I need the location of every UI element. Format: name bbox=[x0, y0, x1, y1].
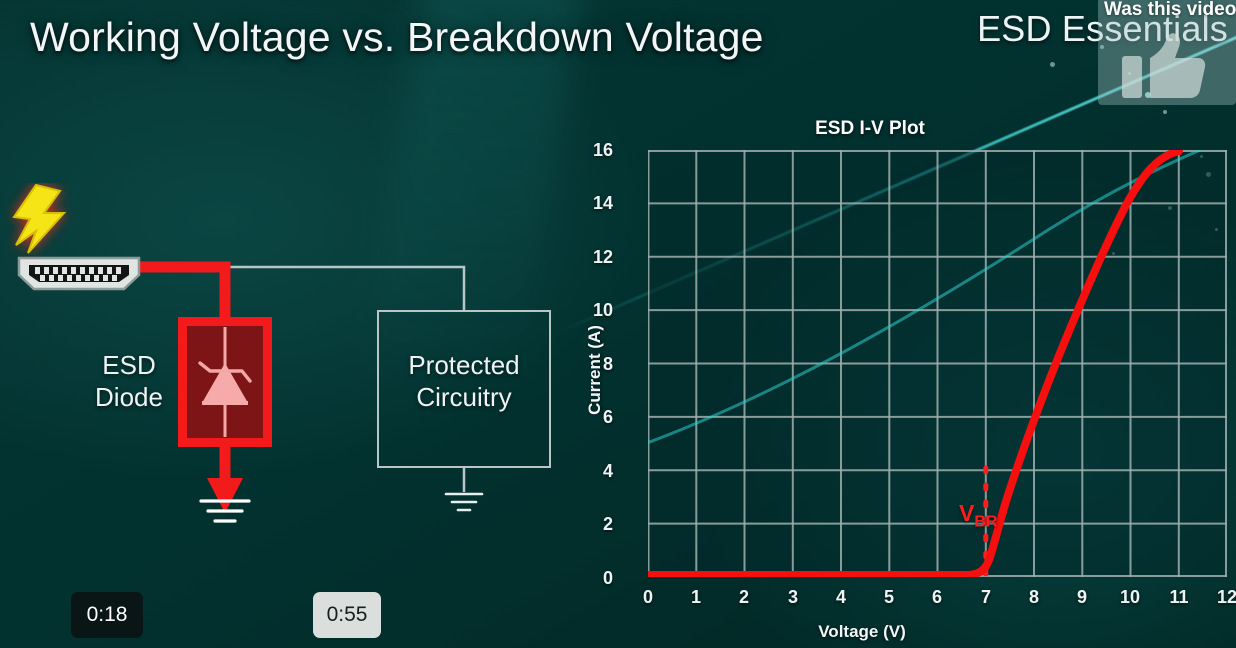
circuit-wires bbox=[0, 0, 620, 600]
x-tick-label: 7 bbox=[968, 587, 1004, 608]
protected-circuitry-label-line2: Circuitry bbox=[377, 381, 551, 413]
chart-plot-area bbox=[648, 150, 1227, 577]
x-tick-label: 10 bbox=[1112, 587, 1148, 608]
esd-strike-bolt-icon bbox=[6, 183, 76, 273]
y-tick-label: 12 bbox=[583, 247, 613, 268]
x-tick-label: 6 bbox=[919, 587, 955, 608]
x-tick-label: 8 bbox=[1016, 587, 1052, 608]
timestamp-badge-current[interactable]: 0:18 bbox=[71, 592, 143, 638]
y-tick-label: 14 bbox=[583, 193, 613, 214]
vbr-annotation-subscript: BR bbox=[974, 514, 997, 531]
x-tick-label: 12 bbox=[1209, 587, 1236, 608]
esd-diode-label-line1: ESD bbox=[86, 350, 172, 382]
x-axis-label: Voltage (V) bbox=[818, 622, 906, 642]
x-tick-label: 4 bbox=[823, 587, 859, 608]
vbr-annotation-symbol: V bbox=[959, 500, 974, 526]
feedback-prompt-text: Was this video bbox=[1104, 0, 1236, 21]
chart-title: ESD I-V Plot bbox=[575, 118, 1165, 140]
x-tick-label: 0 bbox=[630, 587, 666, 608]
vbr-annotation: VBR bbox=[959, 500, 997, 532]
particle-dot bbox=[1050, 62, 1055, 67]
circuit-diagram: ESD Diode Protected Circuitry bbox=[0, 0, 620, 600]
y-tick-label: 10 bbox=[583, 300, 613, 321]
chart-svg bbox=[648, 150, 1227, 577]
protected-circuitry-label: Protected Circuitry bbox=[377, 349, 551, 413]
feedback-overlay-card[interactable]: Was this video bbox=[1098, 0, 1236, 105]
y-tick-label: 16 bbox=[583, 140, 613, 161]
x-tick-label: 3 bbox=[775, 587, 811, 608]
y-tick-label: 2 bbox=[583, 514, 613, 535]
x-tick-label: 11 bbox=[1161, 587, 1197, 608]
x-tick-label: 1 bbox=[678, 587, 714, 608]
thumbs-up-icon[interactable] bbox=[1122, 32, 1208, 98]
timestamp-badge-total[interactable]: 0:55 bbox=[313, 592, 381, 638]
protected-circuitry-label-line1: Protected bbox=[377, 349, 551, 381]
y-tick-label: 4 bbox=[583, 461, 613, 482]
esd-diode-label: ESD Diode bbox=[86, 350, 172, 413]
y-axis-label: Current (A) bbox=[585, 325, 605, 415]
y-tick-label: 0 bbox=[583, 568, 613, 589]
slide-canvas: Working Voltage vs. Breakdown Voltage ES… bbox=[0, 0, 1236, 648]
esd-iv-chart: ESD I-V Plot 16 14 12 10 8 6 4 2 0 bbox=[575, 110, 1236, 648]
tvs-zener-diode-icon bbox=[188, 327, 262, 437]
x-tick-label: 2 bbox=[726, 587, 762, 608]
x-tick-label: 5 bbox=[871, 587, 907, 608]
esd-diode-label-line2: Diode bbox=[86, 382, 172, 414]
x-tick-label: 9 bbox=[1064, 587, 1100, 608]
